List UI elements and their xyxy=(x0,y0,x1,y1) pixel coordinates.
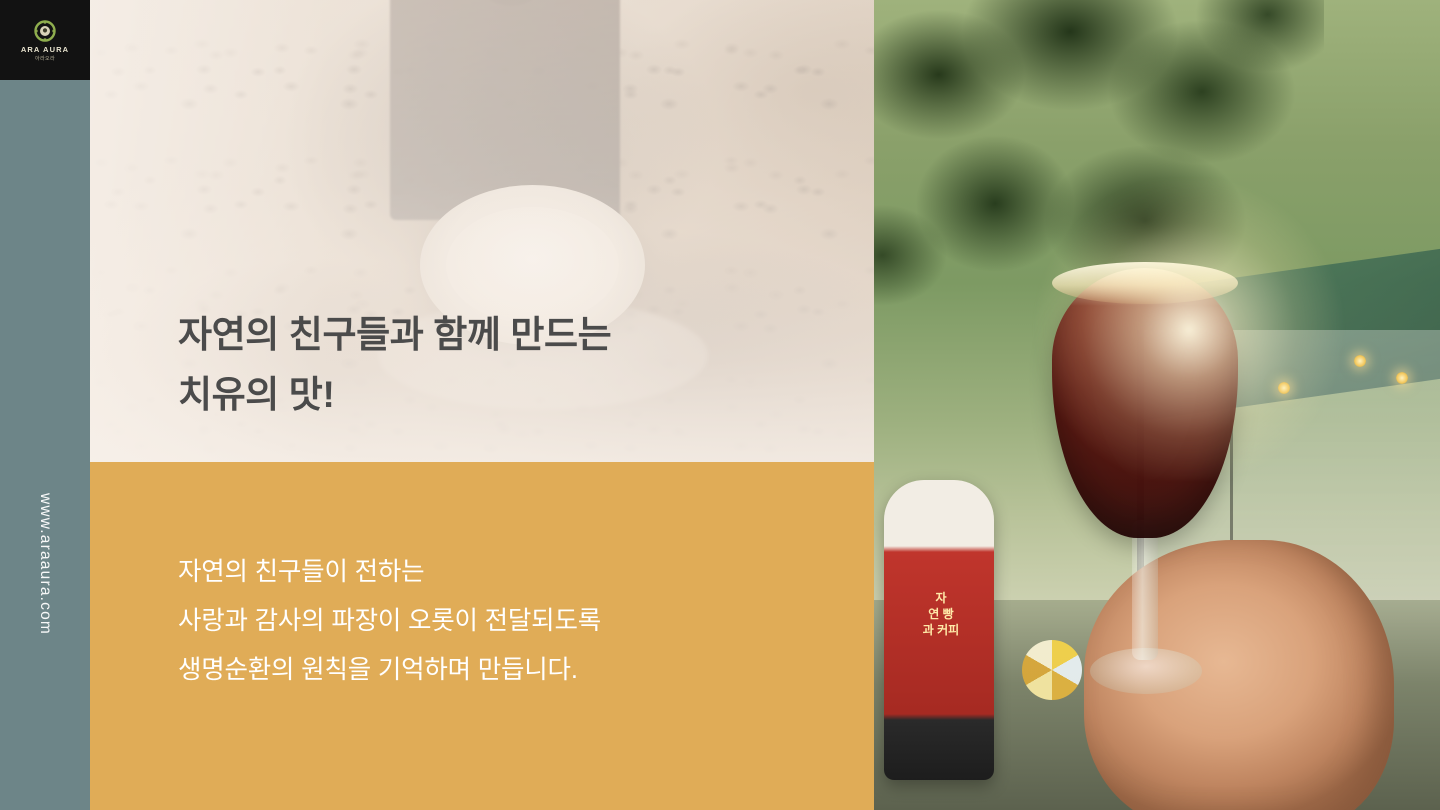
pinwheel-decoration xyxy=(1022,640,1082,700)
string-light-bulb-icon xyxy=(1354,355,1366,367)
wine-glass-coldbrew-outdoor-photo: 자 연 빵 과 커피 xyxy=(874,0,1440,810)
ara-aura-wreath-logo-icon xyxy=(32,18,58,44)
string-light-bulb-icon xyxy=(1396,372,1408,384)
brand-name-kr: 아라오라 xyxy=(35,55,55,62)
bakery-mascot-figure: 자 연 빵 과 커피 xyxy=(884,480,994,780)
left-sidebar: ARA AURA 아라오라 www.araaura.com xyxy=(0,0,90,810)
website-url[interactable]: www.araaura.com xyxy=(36,493,54,635)
brand-logo[interactable]: ARA AURA 아라오라 xyxy=(0,0,90,80)
glass-stem xyxy=(1132,520,1158,660)
page-title: 자연의 친구들과 함께 만드는 치유의 맛! xyxy=(178,305,818,425)
mascot-sign-text: 자 연 빵 과 커피 xyxy=(906,590,976,639)
brand-name-en: ARA AURA xyxy=(21,46,69,54)
slide-root: ARA AURA 아라오라 www.araaura.com 자연의 친구들과 함… xyxy=(0,0,1440,810)
body-paragraph: 자연의 친구들이 전하는 사랑과 감사의 파장이 오롯이 전달되도록 생명순환의… xyxy=(178,548,838,695)
sun-flare xyxy=(1024,180,1354,480)
